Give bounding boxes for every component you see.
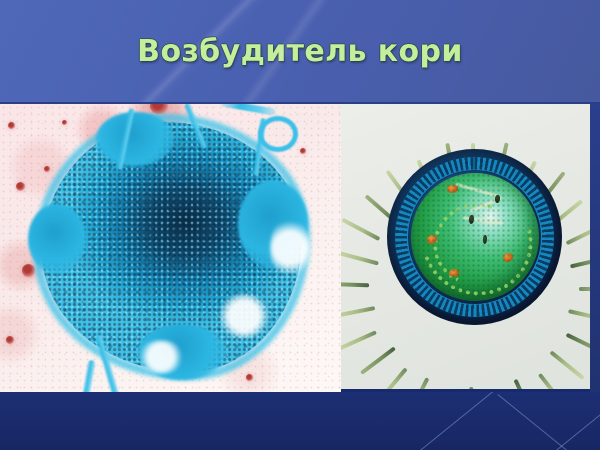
micrograph-highlight — [270, 218, 310, 278]
virus-lobe — [28, 204, 86, 274]
virus-lobe — [96, 112, 174, 166]
footer-diagonal-line — [556, 400, 600, 450]
protein-fleck — [427, 235, 437, 244]
virus-filament-loop — [258, 116, 298, 152]
spike-protein — [378, 367, 408, 389]
stain-dot — [16, 182, 25, 191]
spike-protein — [513, 379, 534, 389]
micrograph-highlight — [138, 340, 184, 374]
micrograph-highlight — [218, 294, 270, 338]
spike-protein — [341, 282, 369, 287]
image-band — [0, 104, 600, 394]
stain-dot — [246, 374, 253, 381]
virus-particle — [42, 122, 302, 372]
protein-fleck — [503, 253, 513, 262]
rna-strand — [455, 183, 500, 199]
slide-footer — [0, 392, 600, 450]
stain-dot — [6, 336, 14, 344]
page-title: Возбудитель кори — [0, 34, 600, 69]
spike-protein — [538, 373, 567, 389]
spike-protein — [341, 330, 377, 351]
stain-dot — [22, 264, 35, 277]
spike-protein — [469, 387, 474, 389]
measles-virion-3d-illustration — [341, 104, 600, 389]
spike-protein — [341, 306, 375, 318]
spike-protein — [360, 346, 396, 374]
footer-diagonal-line — [420, 392, 568, 450]
virion-figure — [359, 116, 587, 378]
spike-protein — [549, 350, 584, 380]
rna-strand — [463, 216, 503, 225]
slide: Возбудитель кори — [0, 0, 600, 450]
protein-fleck — [483, 235, 487, 244]
rna-helix — [411, 173, 539, 301]
spike-protein — [407, 377, 430, 389]
protein-fleck — [495, 195, 500, 203]
spike-protein — [341, 218, 380, 241]
protein-fleck — [449, 269, 459, 277]
slide-header: Возбудитель кори — [0, 0, 600, 104]
rna-helix — [422, 191, 531, 297]
protein-fleck — [447, 185, 458, 193]
nucleocapsid-core — [411, 173, 539, 301]
stain-dot — [8, 122, 15, 129]
footer-decoration — [0, 392, 600, 450]
rna-strand — [470, 196, 502, 213]
spike-protein — [341, 251, 379, 266]
footer-diagonal-line — [497, 394, 600, 450]
protein-fleck — [469, 215, 474, 224]
slide-right-edge — [590, 104, 600, 394]
measles-virus-electron-micrograph — [0, 104, 341, 392]
